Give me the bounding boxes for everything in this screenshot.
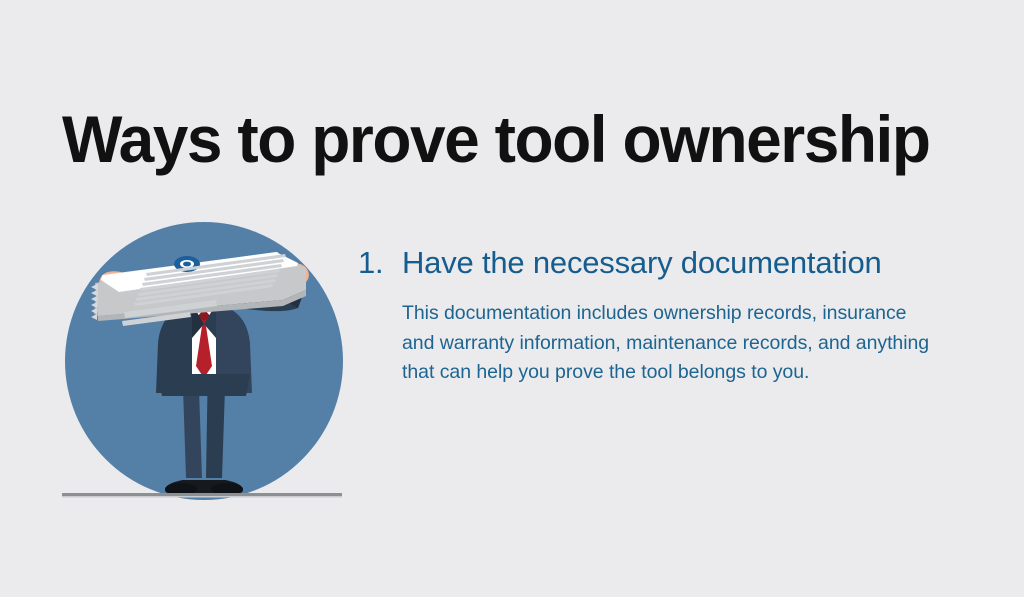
item-body-text: This documentation includes ownership re… — [402, 299, 932, 388]
slide-root: Ways to prove tool ownership — [0, 0, 1024, 597]
item-title: Have the necessary documentation — [402, 244, 882, 282]
page-title: Ways to prove tool ownership — [62, 99, 954, 179]
item-number: 1. — [358, 244, 402, 282]
item-heading: 1. Have the necessary documentation — [358, 244, 978, 282]
ground-line — [62, 493, 342, 496]
illustration-man-holding-documents — [40, 178, 370, 518]
dress-shoes — [165, 480, 243, 495]
content-column: 1. Have the necessary documentation This… — [358, 244, 978, 407]
